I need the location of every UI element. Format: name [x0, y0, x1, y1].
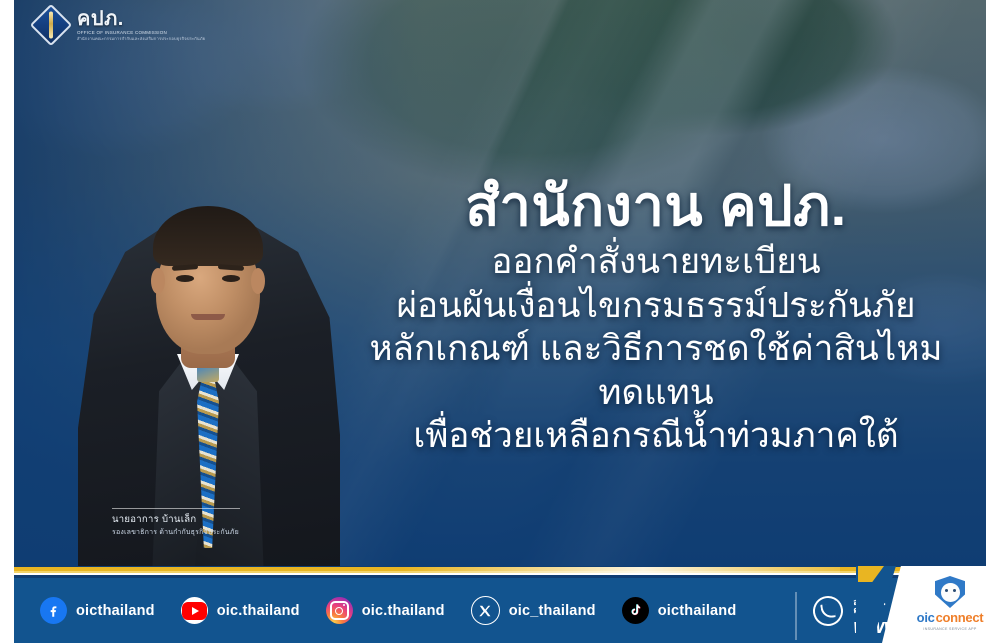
badge-word-oic: oic [917, 610, 935, 625]
shield-mascot-icon [935, 576, 965, 608]
oic-wordmark: คปภ. OFFICE OF INSURANCE COMMISSION สำนั… [77, 9, 205, 41]
x-handle[interactable]: oic_thailand [509, 603, 596, 619]
mouth [191, 314, 225, 320]
phone-icon [809, 592, 847, 630]
oic-connect-wordmark: oic connect [917, 610, 984, 625]
social-instagram[interactable]: oic.thailand [326, 597, 445, 624]
headline-block: สำนักงาน คปภ. ออกคำสั่งนายทะเบียน ผ่อนผั… [356, 176, 956, 457]
social-facebook[interactable]: oicthailand [40, 597, 155, 624]
tiktok-handle[interactable]: oicthailand [658, 603, 737, 619]
tiktok-icon[interactable] [622, 597, 649, 624]
instagram-handle[interactable]: oic.thailand [362, 603, 445, 619]
ear-right [251, 268, 265, 294]
ear-left [151, 268, 165, 294]
social-x[interactable]: oic_thailand [471, 596, 596, 625]
headline-line-4: หลักเกณฑ์ และวิธีการชดใช้ค่าสินไหมทดแทน [356, 327, 956, 414]
footer-bar: oicthailand oic.thailand oic.thailand [14, 578, 986, 643]
eye-left [176, 275, 194, 282]
headline-line-1: สำนักงาน คปภ. [356, 176, 956, 236]
oic-logo: คปภ. OFFICE OF INSURANCE COMMISSION สำนั… [32, 6, 205, 44]
instagram-icon[interactable] [326, 597, 353, 624]
speaker-title: รองเลขาธิการ ด้านกำกับธุรกิจประกันภัย [112, 528, 342, 537]
gold-divider-stripe [14, 566, 986, 578]
caption-divider [112, 508, 240, 509]
headline-line-2: ออกคำสั่งนายทะเบียน [356, 240, 956, 283]
hero-artwork: คปภ. OFFICE OF INSURANCE COMMISSION สำนั… [14, 0, 986, 566]
executive-portrait [58, 46, 358, 566]
logo-thai-text: คปภ. [77, 9, 205, 29]
facebook-handle[interactable]: oicthailand [76, 603, 155, 619]
youtube-icon[interactable] [181, 597, 208, 624]
youtube-handle[interactable]: oic.thailand [217, 603, 300, 619]
eye-right [222, 275, 240, 282]
social-tiktok[interactable]: oicthailand [622, 597, 737, 624]
x-icon[interactable] [471, 596, 500, 625]
headline-line-3: ผ่อนผันเงื่อนไขกรมธรรม์ประกันภัย [356, 284, 956, 327]
badge-word-connect: connect [936, 610, 984, 625]
badge-tagline: INSURANCE SERVICE APP [923, 627, 976, 631]
headline-line-5: เพื่อช่วยเหลือกรณีน้ำท่วมภาคใต้ [356, 414, 956, 457]
social-youtube[interactable]: oic.thailand [181, 597, 300, 624]
speaker-name: นายอาการ บ้านเล็ก [112, 514, 342, 526]
speaker-caption: นายอาการ บ้านเล็ก รองเลขาธิการ ด้านกำกับ… [112, 508, 342, 537]
facebook-icon[interactable] [40, 597, 67, 624]
oic-connect-badge[interactable]: oic connect INSURANCE SERVICE APP [882, 566, 1000, 643]
oic-diamond-icon [32, 6, 70, 44]
poster-canvas: คปภ. OFFICE OF INSURANCE COMMISSION สำนั… [0, 0, 1000, 643]
social-links: oicthailand oic.thailand oic.thailand [14, 596, 736, 625]
logo-en-line2: สำนักงานคณะกรรมการกำกับและส่งเสริมการประ… [77, 37, 205, 41]
